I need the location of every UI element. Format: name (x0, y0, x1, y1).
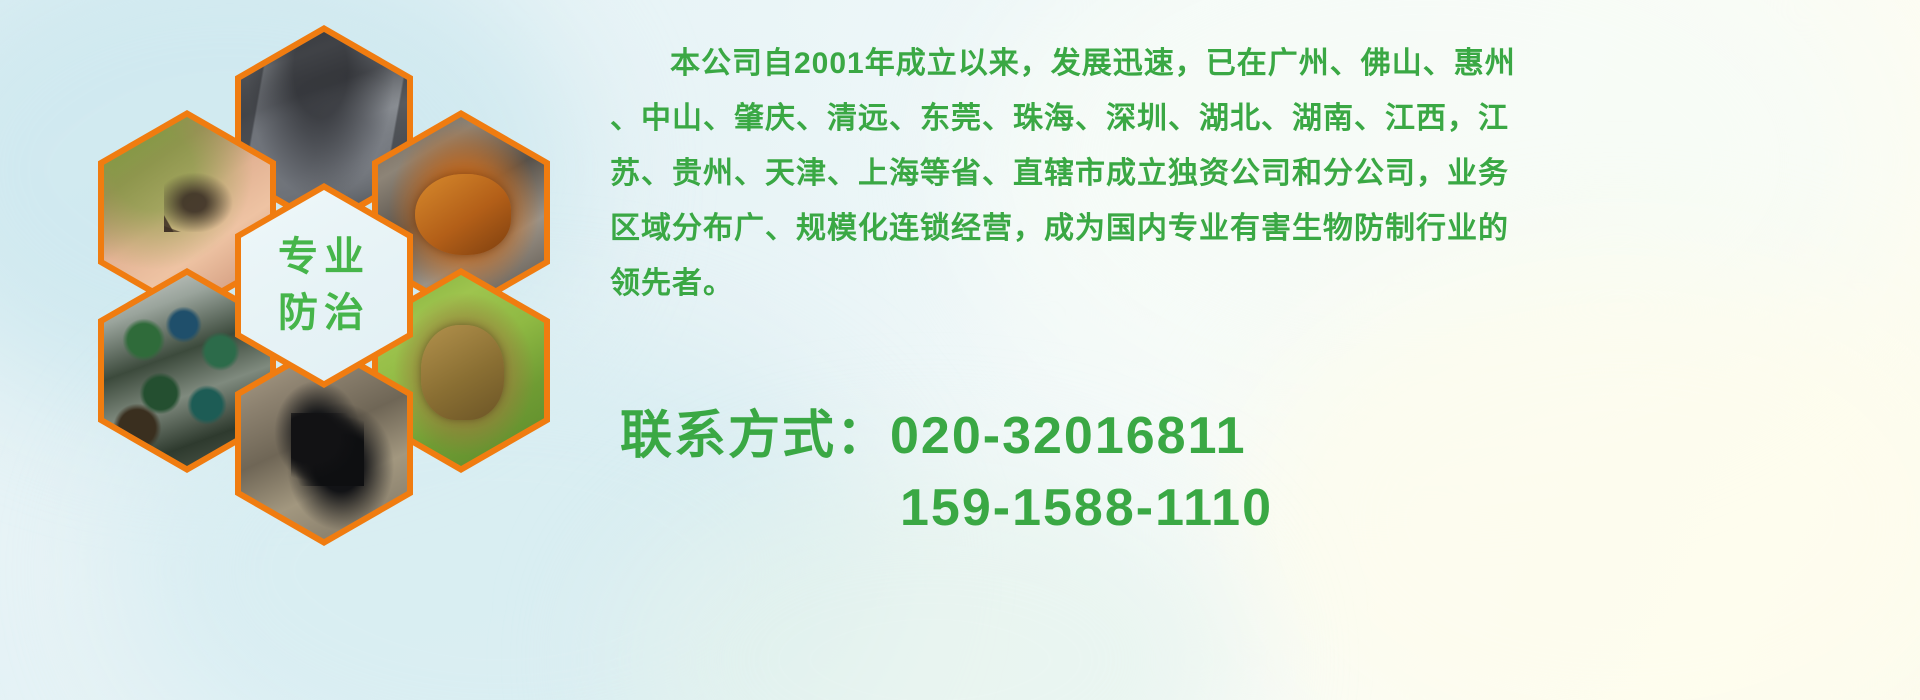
intro-line-5: 领先者。 (610, 256, 1910, 311)
intro-line-3: 苏、贵州、天津、上海等省、直辖市成立独资公司和分公司，业务 (610, 146, 1910, 201)
hexagon-photo-cluster: 专业 防治 (80, 0, 600, 580)
slogan-line-2: 防治 (278, 286, 370, 341)
slogan-line-1: 专业 (278, 230, 370, 285)
contact-block: 联系方式：020-32016811 159-1588-1110 (620, 400, 1900, 544)
intro-copy-block: 本公司自2001年成立以来，发展迅速，已在广州、佛山、惠州 、中山、肇庆、清远、… (610, 36, 1910, 311)
intro-line-2: 、中山、肇庆、清远、东莞、珠海、深圳、湖北、湖南、江西，江 (610, 91, 1910, 146)
intro-line-4: 区域分布广、规模化连锁经营，成为国内专业有害生物防制行业的 (610, 201, 1910, 256)
contact-phone-primary[interactable]: 联系方式：020-32016811 (620, 400, 1900, 472)
contact-phone-secondary[interactable]: 159-1588-1110 (620, 472, 1900, 544)
intro-paragraph: 本公司自2001年成立以来，发展迅速，已在广州、佛山、惠州 、中山、肇庆、清远、… (610, 36, 1910, 311)
promo-banner: 专业 防治 本公司自2001年成立以来，发展迅速，已在广州、佛山、惠州 、中山、… (0, 0, 1920, 700)
hex-inner-slogan: 专业 防治 (241, 190, 407, 381)
intro-line-1: 本公司自2001年成立以来，发展迅速，已在广州、佛山、惠州 (610, 36, 1910, 91)
slogan-text: 专业 防治 (278, 230, 370, 340)
